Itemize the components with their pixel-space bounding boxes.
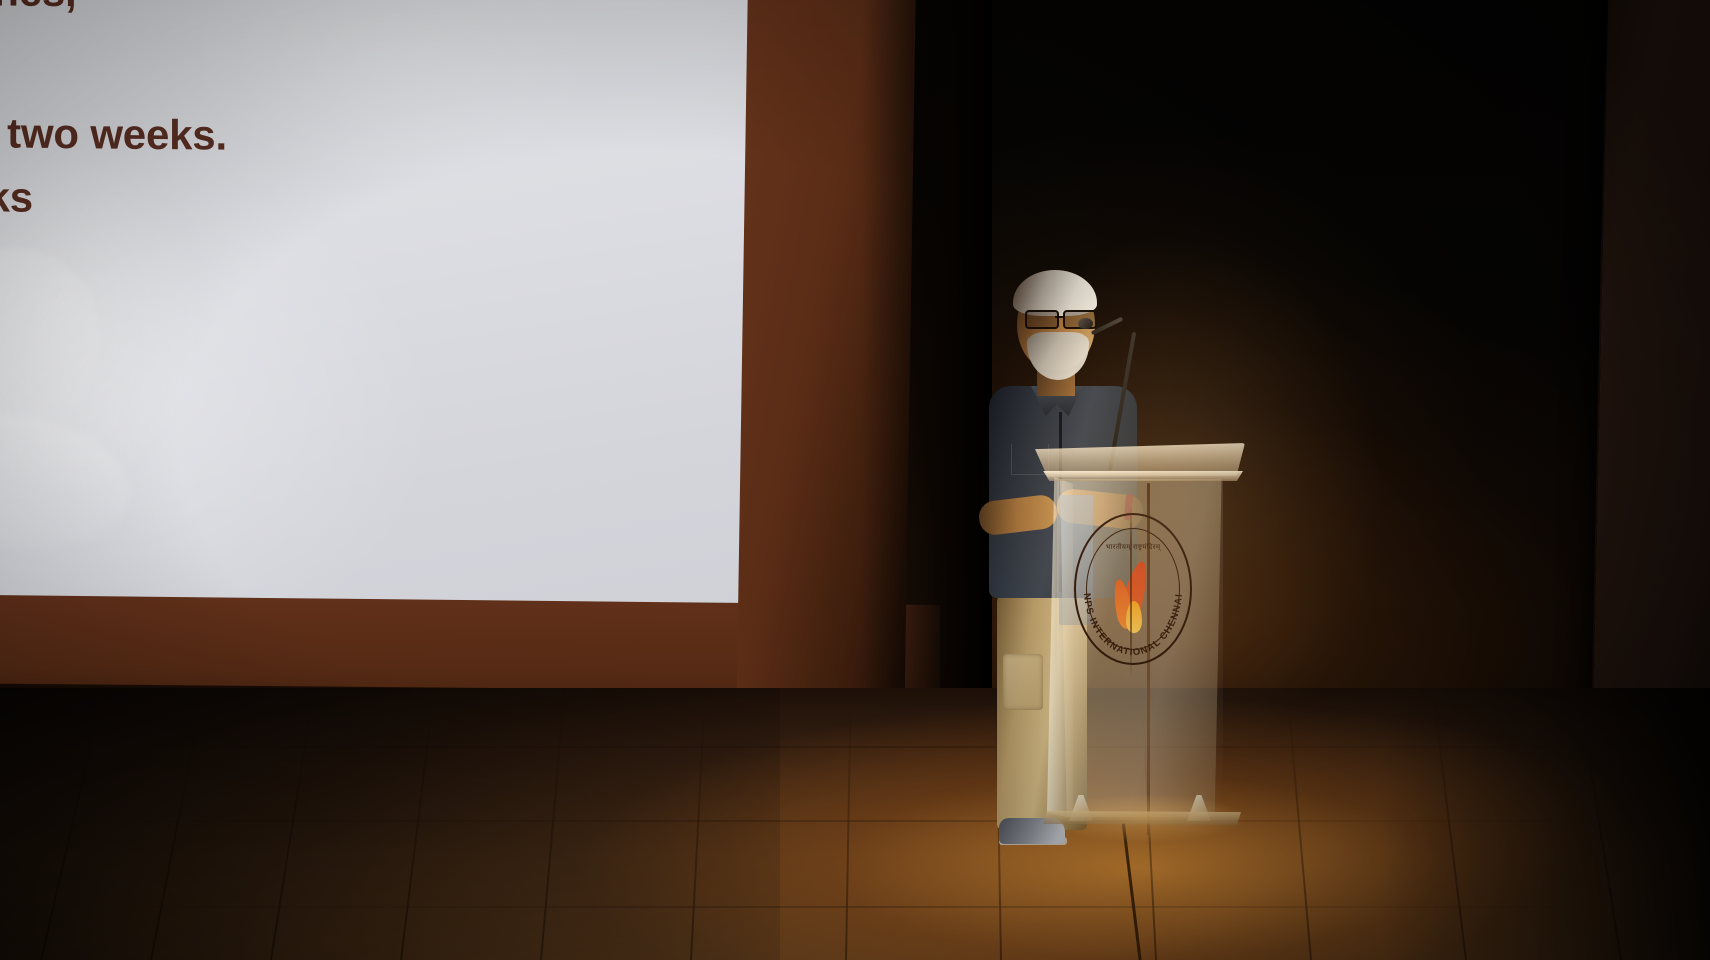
stage-floor xyxy=(0,688,1710,960)
podium-panel-seam xyxy=(1130,507,1132,677)
watermark-shape-lower xyxy=(0,396,139,564)
slide-text-block: serts, dunes, ng about two weeks. roadbo… xyxy=(0,0,520,373)
school-logo: भारतीयम् राष्ट्रमंदिरम् NPS INTERNATIONA… xyxy=(1074,513,1192,665)
wall-darkness-fade xyxy=(862,0,992,760)
microphone-icon xyxy=(1078,318,1093,329)
projection-screen: serts, dunes, ng about two weeks. roadbo… xyxy=(0,0,770,652)
slide-line-2: ng about two weeks. xyxy=(0,109,520,162)
slide-line-1: serts, dunes, xyxy=(0,0,520,19)
slide-line-3: roadbooks xyxy=(0,173,520,226)
floor-shadow-left xyxy=(0,688,780,960)
logo-sanskrit-motto: भारतीयम् राष्ट्रमंदिरम् xyxy=(1090,543,1176,552)
slide-hyperlink[interactable]: Q_dsow xyxy=(0,321,520,374)
flame-icon xyxy=(1111,561,1155,639)
podium-lip xyxy=(1037,471,1243,481)
stage-photo-scene: serts, dunes, ng about two weeks. roadbo… xyxy=(0,0,1710,960)
floor-shadow-right xyxy=(1380,688,1710,960)
podium-base-rail xyxy=(1043,811,1241,825)
